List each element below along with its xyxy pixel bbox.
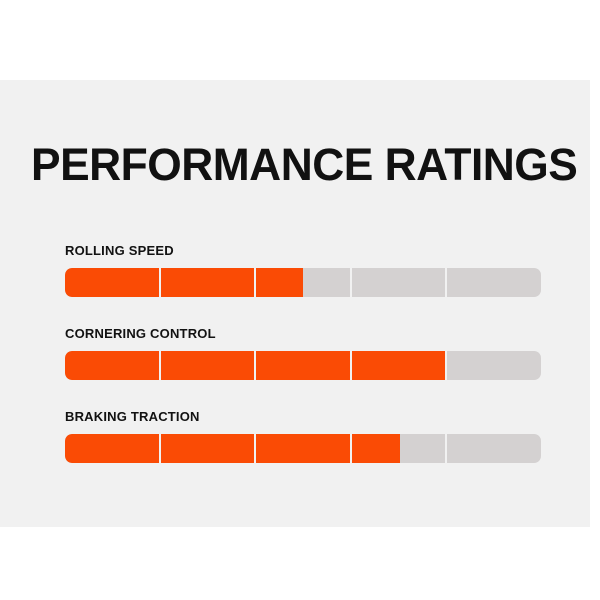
rating-label-cornering-control: CORNERING CONTROL xyxy=(65,327,541,340)
bar-segment-fill xyxy=(256,268,303,297)
rating-row: ROLLING SPEED xyxy=(65,244,541,297)
rating-bar-braking-traction xyxy=(65,434,541,463)
bar-segment xyxy=(352,434,446,463)
bar-segment xyxy=(65,434,159,463)
rating-row: CORNERING CONTROL xyxy=(65,327,541,380)
ratings-list: ROLLING SPEED CORNERING CONTROL BRAKING … xyxy=(65,244,541,463)
bar-segment xyxy=(352,351,446,380)
bar-segment xyxy=(352,268,446,297)
bar-segment xyxy=(447,268,541,297)
bar-segment xyxy=(161,351,255,380)
bar-segment-fill xyxy=(65,351,159,380)
rating-label-braking-traction: BRAKING TRACTION xyxy=(65,410,541,423)
bar-segment-fill xyxy=(65,268,159,297)
bar-segment-fill xyxy=(161,351,255,380)
rating-row: BRAKING TRACTION xyxy=(65,410,541,463)
bar-segment xyxy=(256,434,350,463)
bar-segment-fill xyxy=(65,434,159,463)
bar-segment xyxy=(447,351,541,380)
bar-segment-fill xyxy=(161,434,255,463)
rating-bar-cornering-control xyxy=(65,351,541,380)
bar-segment xyxy=(65,268,159,297)
page-title: PERFORMANCE RATINGS xyxy=(31,142,577,187)
bar-segment xyxy=(161,268,255,297)
bar-segment-fill xyxy=(352,434,401,463)
bar-segment-fill xyxy=(161,268,255,297)
bar-segment xyxy=(65,351,159,380)
rating-label-rolling-speed: ROLLING SPEED xyxy=(65,244,541,257)
rating-bar-rolling-speed xyxy=(65,268,541,297)
bar-segment-fill xyxy=(352,351,446,380)
bar-segment xyxy=(256,268,350,297)
bar-segment xyxy=(447,434,541,463)
bar-segment xyxy=(256,351,350,380)
bar-segment xyxy=(161,434,255,463)
bar-segment-fill xyxy=(256,434,350,463)
bar-segment-fill xyxy=(256,351,350,380)
